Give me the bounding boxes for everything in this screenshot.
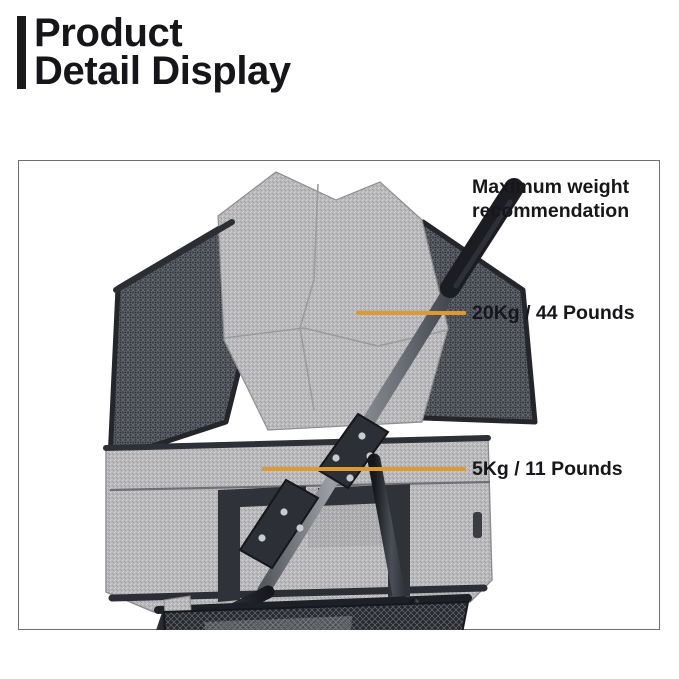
title-line-1: Product xyxy=(34,14,291,52)
title-line-2: Detail Display xyxy=(34,52,291,90)
callout-value-lower-basket: 5Kg / 11 Pounds xyxy=(472,458,623,481)
leader-line-upper-carrier xyxy=(356,311,466,315)
callout-heading: Maximum weight recommendation xyxy=(472,176,662,224)
title-accent-bar xyxy=(17,16,26,89)
product-photo xyxy=(18,160,660,630)
callout-value-upper-carrier: 20Kg / 44 Pounds xyxy=(472,302,635,325)
page-title: Product Detail Display xyxy=(17,14,291,91)
leader-line-lower-basket xyxy=(262,467,466,471)
title-lines: Product Detail Display xyxy=(34,14,291,91)
